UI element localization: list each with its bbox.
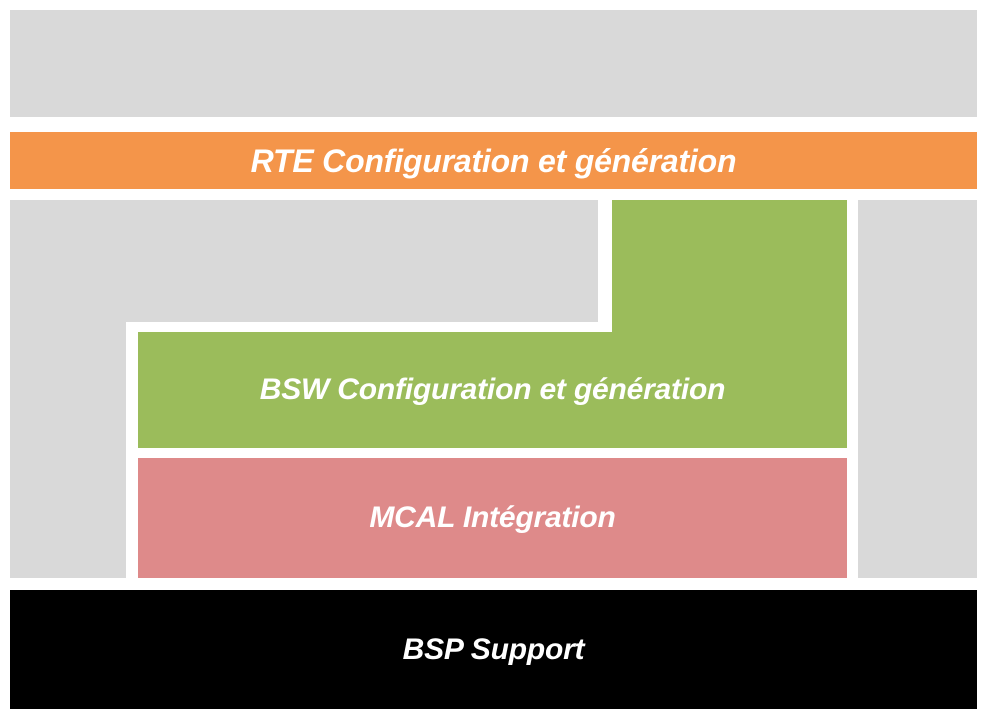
layer-plate-middle-upper xyxy=(10,200,598,322)
layer-bar-rte[interactable]: RTE Configuration et génération xyxy=(10,132,977,189)
diagram-canvas: RTE Configuration et génération BSW Conf… xyxy=(0,0,986,709)
layer-bar-mcal[interactable]: MCAL Intégration xyxy=(138,458,847,578)
layer-bar-bsp[interactable]: BSP Support xyxy=(10,590,977,709)
layer-plate-middle-right xyxy=(858,200,977,578)
layer-bar-bsp-label: BSP Support xyxy=(403,635,585,665)
layer-bar-bsw[interactable]: BSW Configuration et génération xyxy=(138,332,847,448)
layer-plate-top xyxy=(10,10,977,117)
layer-bar-bsw-label: BSW Configuration et génération xyxy=(260,375,725,405)
layer-bar-rte-label: RTE Configuration et génération xyxy=(251,145,737,177)
layer-bar-mcal-label: MCAL Intégration xyxy=(369,503,615,533)
